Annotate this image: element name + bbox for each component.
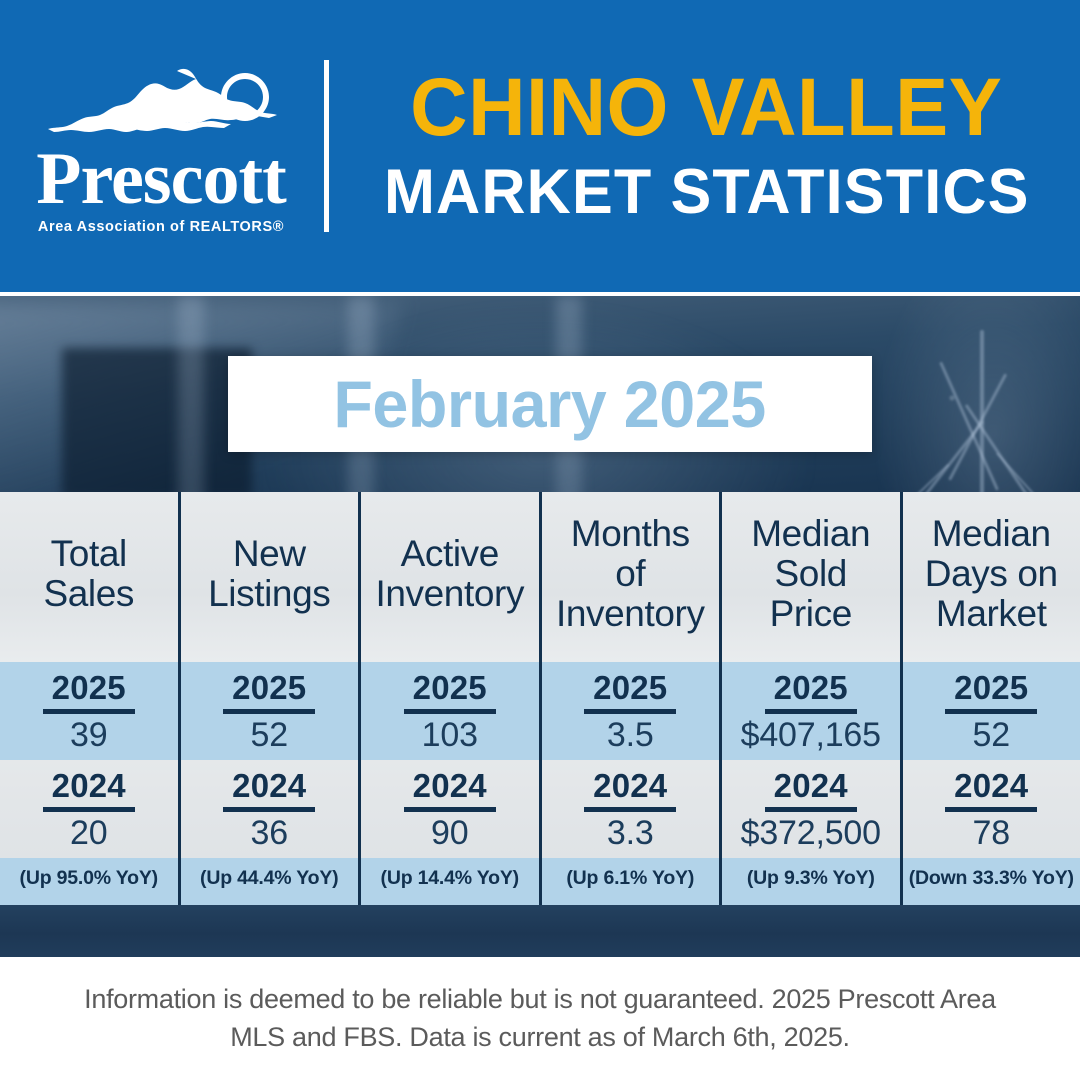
yoy-label: (Up 14.4% YoY) — [381, 867, 519, 890]
row-2024: 2024 78 — [903, 760, 1080, 858]
month-banner: February 2025 — [228, 356, 872, 452]
year-underline — [43, 807, 135, 812]
prescott-logo: Prescott Area Association of REALTORS® — [0, 0, 322, 292]
year-underline — [223, 709, 315, 714]
stats-table: Total Sales 2025 39 2024 20 (Up 95.0% Yo… — [0, 492, 1080, 905]
year-label-2025: 2025 — [954, 671, 1028, 709]
year-label-2024: 2024 — [413, 769, 487, 807]
month-label: February 2025 — [334, 366, 766, 442]
year-underline — [223, 807, 315, 812]
value-2025: 39 — [70, 718, 107, 752]
value-2024: 20 — [70, 816, 107, 850]
row-2025: 2025 52 — [181, 662, 359, 760]
stat-column-median-days-on-market: Median Days on Market 2025 52 2024 78 (D… — [903, 492, 1080, 905]
value-2025: 52 — [251, 718, 288, 752]
row-2024: 2024 90 — [361, 760, 539, 858]
year-underline — [404, 709, 496, 714]
year-label-2025: 2025 — [774, 671, 848, 709]
row-yoy: (Up 6.1% YoY) — [542, 858, 720, 905]
row-yoy: (Up 44.4% YoY) — [181, 858, 359, 905]
value-2024: 3.3 — [607, 816, 654, 850]
year-underline — [584, 807, 676, 812]
row-2025: 2025 $407,165 — [722, 662, 900, 760]
year-underline — [765, 807, 857, 812]
year-underline — [584, 709, 676, 714]
yoy-label: (Up 44.4% YoY) — [200, 867, 338, 890]
year-label-2025: 2025 — [413, 671, 487, 709]
column-header-label: Median Sold Price — [751, 514, 870, 634]
page-title: CHINO VALLEY — [410, 67, 1002, 149]
yoy-label: (Up 6.1% YoY) — [566, 867, 694, 890]
infographic-page: Prescott Area Association of REALTORS® C… — [0, 0, 1080, 1080]
value-2025: 52 — [973, 718, 1010, 752]
column-header-label: New Listings — [208, 534, 330, 614]
header-title-block: CHINO VALLEY MARKET STATISTICS — [329, 0, 1080, 292]
disclaimer-text: Information is deemed to be reliable but… — [60, 981, 1020, 1056]
row-2024: 2024 20 — [0, 760, 178, 858]
column-header-label: Total Sales — [43, 534, 134, 614]
value-2025: 103 — [422, 718, 478, 752]
year-label-2024: 2024 — [593, 769, 667, 807]
column-header-label: Median Days on Market — [925, 514, 1058, 634]
yoy-label: (Up 9.3% YoY) — [747, 867, 875, 890]
row-yoy: (Up 95.0% YoY) — [0, 858, 178, 905]
value-2025: 3.5 — [607, 718, 654, 752]
yoy-label: (Down 33.3% YoY) — [909, 867, 1074, 890]
row-2025: 2025 39 — [0, 662, 178, 760]
column-header: Total Sales — [0, 492, 178, 662]
year-underline — [404, 807, 496, 812]
row-yoy: (Down 33.3% YoY) — [903, 858, 1080, 905]
value-2024: 78 — [973, 816, 1010, 850]
row-2025: 2025 3.5 — [542, 662, 720, 760]
year-label-2024: 2024 — [232, 769, 306, 807]
column-header: Median Sold Price — [722, 492, 900, 662]
value-2024: $372,500 — [741, 816, 881, 850]
stat-column-median-sold-price: Median Sold Price 2025 $407,165 2024 $37… — [722, 492, 903, 905]
logo-tagline: Area Association of REALTORS® — [38, 219, 284, 235]
value-2024: 90 — [431, 816, 468, 850]
column-header-label: Active Inventory — [375, 534, 524, 614]
stat-column-new-listings: New Listings 2025 52 2024 36 (Up 44.4% Y… — [181, 492, 362, 905]
stat-column-months-of-inventory: Months of Inventory 2025 3.5 2024 3.3 (U… — [542, 492, 723, 905]
year-underline — [43, 709, 135, 714]
row-2024: 2024 3.3 — [542, 760, 720, 858]
row-2024: 2024 $372,500 — [722, 760, 900, 858]
year-underline — [765, 709, 857, 714]
row-2025: 2025 103 — [361, 662, 539, 760]
year-underline — [945, 807, 1037, 812]
stat-column-total-sales: Total Sales 2025 39 2024 20 (Up 95.0% Yo… — [0, 492, 181, 905]
column-header: New Listings — [181, 492, 359, 662]
mountain-logo-icon — [27, 63, 295, 149]
year-label-2025: 2025 — [593, 671, 667, 709]
year-label-2025: 2025 — [232, 671, 306, 709]
column-header-label: Months of Inventory — [556, 514, 705, 634]
column-header: Active Inventory — [361, 492, 539, 662]
header-banner: Prescott Area Association of REALTORS® C… — [0, 0, 1080, 292]
photo-bottom-strip — [0, 905, 1080, 957]
value-2025: $407,165 — [741, 718, 881, 752]
logo-wordmark: Prescott — [36, 145, 285, 213]
value-2024: 36 — [251, 816, 288, 850]
footer: Information is deemed to be reliable but… — [0, 957, 1080, 1080]
year-label-2024: 2024 — [52, 769, 126, 807]
year-label-2024: 2024 — [954, 769, 1028, 807]
row-yoy: (Up 9.3% YoY) — [722, 858, 900, 905]
year-underline — [945, 709, 1037, 714]
photo-window — [62, 348, 252, 498]
row-2025: 2025 52 — [903, 662, 1080, 760]
year-label-2024: 2024 — [774, 769, 848, 807]
column-header: Months of Inventory — [542, 492, 720, 662]
stat-column-active-inventory: Active Inventory 2025 103 2024 90 (Up 14… — [361, 492, 542, 905]
row-yoy: (Up 14.4% YoY) — [361, 858, 539, 905]
yoy-label: (Up 95.0% YoY) — [20, 867, 158, 890]
year-label-2025: 2025 — [52, 671, 126, 709]
page-subtitle: MARKET STATISTICS — [384, 159, 1030, 225]
column-header: Median Days on Market — [903, 492, 1080, 662]
row-2024: 2024 36 — [181, 760, 359, 858]
